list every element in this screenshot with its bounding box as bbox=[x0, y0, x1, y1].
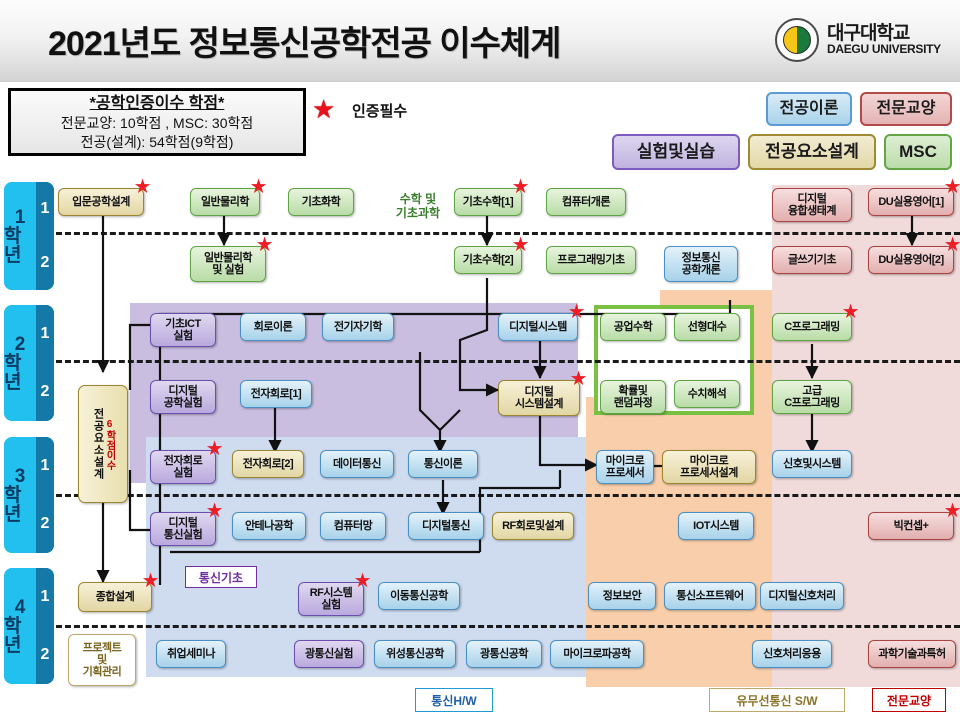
course-node[interactable]: 마이크로 프로세서설계 bbox=[662, 450, 756, 484]
course-node[interactable]: 프로젝트 및 기획관리 bbox=[68, 634, 136, 686]
course-label: 프로젝트 및 기획관리 bbox=[83, 642, 121, 678]
course-node[interactable]: 안테나공학 bbox=[232, 512, 306, 540]
course-node[interactable]: 전기자기학 bbox=[322, 313, 394, 341]
course-node[interactable]: 디지털통신 bbox=[408, 512, 484, 540]
group-label-math-line2: 기초과학 bbox=[378, 206, 458, 220]
course-node[interactable]: 회로이론 bbox=[240, 313, 306, 341]
course-node[interactable]: 종합설계★ bbox=[78, 582, 152, 612]
course-node[interactable]: 일반물리학★ bbox=[190, 188, 260, 216]
course-label: IOT시스템 bbox=[693, 520, 739, 532]
group-label-comm-basic: 통신기초 bbox=[185, 566, 257, 588]
course-node[interactable]: 수치해석 bbox=[674, 380, 740, 408]
course-label: 과학기술과특허 bbox=[878, 648, 945, 660]
year-suffix-2: 학년 bbox=[4, 354, 36, 392]
year-number-2: 2 bbox=[15, 335, 26, 354]
course-label: 컴퓨터망 bbox=[334, 520, 372, 532]
course-node[interactable]: 데이터통신 bbox=[320, 450, 394, 478]
course-node[interactable]: 위성통신공학 bbox=[374, 640, 456, 668]
legend-chip-theory: 전공이론 bbox=[766, 92, 852, 126]
course-label: 일반물리학 bbox=[201, 196, 249, 208]
course-node[interactable]: 공업수학 bbox=[600, 313, 666, 341]
sem-2-2: 2 bbox=[36, 363, 54, 421]
course-node[interactable]: IOT시스템 bbox=[678, 512, 754, 540]
course-node[interactable]: 빅컨셉+★ bbox=[868, 512, 954, 540]
legend-chip-design: 전공요소설계 bbox=[748, 134, 876, 170]
group-label-comm-hw: 통신H/W bbox=[415, 688, 493, 712]
course-label: 통신소프트웨어 bbox=[676, 590, 743, 602]
semester-col-3: 1 2 bbox=[36, 437, 54, 553]
year-block-1: 1 학년 1 2 bbox=[4, 182, 54, 290]
year-number-4: 4 bbox=[15, 598, 26, 617]
course-label: 전자회로 실험 bbox=[164, 455, 202, 479]
sem-3-1: 1 bbox=[36, 437, 54, 495]
credit-line-2: 전공(설계): 54학점(9학점) bbox=[11, 133, 303, 152]
legend-chip-lab: 실험및실습 bbox=[612, 134, 740, 170]
course-label: 디지털시스템 bbox=[509, 321, 567, 333]
course-node[interactable]: 글쓰기기초 bbox=[772, 246, 852, 274]
course-node[interactable]: 이동통신공학 bbox=[378, 582, 460, 610]
course-label: 디지털 시스템설계 bbox=[515, 386, 563, 410]
course-label: 광통신공학 bbox=[480, 648, 528, 660]
course-label: 이동통신공학 bbox=[390, 590, 448, 602]
seal-inner-icon bbox=[783, 26, 811, 54]
course-label: 광통신실험 bbox=[305, 648, 353, 660]
course-label: C프로그래밍 bbox=[784, 321, 840, 333]
logo-name-en: DAEGU UNIVERSITY bbox=[827, 42, 941, 56]
year-block-4: 4 학년 1 2 bbox=[4, 568, 54, 684]
course-node[interactable]: RF시스템 실험★ bbox=[298, 582, 364, 616]
course-label: 디지털통신 bbox=[422, 520, 470, 532]
course-label: RF시스템 실험 bbox=[310, 587, 353, 611]
star-icon: ★ bbox=[568, 302, 585, 322]
star-icon: ★ bbox=[944, 501, 960, 521]
course-label: 기초화학 bbox=[302, 196, 340, 208]
star-icon: ★ bbox=[134, 177, 151, 197]
semester-divider-3 bbox=[56, 494, 960, 497]
course-label: RF회로및설계 bbox=[502, 520, 564, 532]
course-label: 확률및 랜덤과정 bbox=[614, 385, 652, 409]
course-label: 글쓰기기초 bbox=[788, 254, 836, 266]
course-label: 디지털 공학실험 bbox=[164, 385, 202, 409]
course-node[interactable]: 정보보안 bbox=[588, 582, 656, 610]
course-label: 안테나공학 bbox=[245, 520, 293, 532]
star-icon: ★ bbox=[512, 177, 529, 197]
star-icon: ★ bbox=[250, 177, 267, 197]
course-node[interactable]: 정보통신 공학개론 bbox=[664, 246, 738, 282]
year-label-2: 2 학년 bbox=[4, 305, 36, 421]
course-node[interactable]: 디지털 통신실험★ bbox=[150, 512, 216, 546]
course-node[interactable]: 기초ICT 실험 bbox=[150, 313, 216, 347]
star-icon: ★ bbox=[312, 94, 335, 124]
credit-title: *공학인증이수 학점* bbox=[11, 94, 303, 114]
course-node-design-credit[interactable]: 전공요소설계 6학점이수 bbox=[78, 385, 128, 503]
course-node[interactable]: 기초수학[2]★ bbox=[454, 246, 522, 274]
course-label: 신호처리응용 bbox=[763, 648, 821, 660]
course-label: DU실용영어[2] bbox=[878, 254, 943, 266]
star-icon: ★ bbox=[570, 369, 587, 389]
sem-4-1: 1 bbox=[36, 568, 54, 626]
course-node[interactable]: 일반물리학 및 실험★ bbox=[190, 246, 266, 282]
course-label: 입문공학설계 bbox=[72, 196, 130, 208]
course-node[interactable]: 마이크로 프로세서 bbox=[596, 450, 654, 484]
sem-4-2: 2 bbox=[36, 626, 54, 684]
sem-1-1: 1 bbox=[36, 182, 54, 236]
semester-divider-1 bbox=[56, 232, 960, 235]
course-node[interactable]: 신호및시스템 bbox=[772, 450, 852, 478]
course-node[interactable]: 고급 C프로그래밍 bbox=[772, 380, 852, 414]
course-label: DU실용영어[1] bbox=[878, 196, 943, 208]
group-label-comm-sw: 유무선통신 S/W bbox=[709, 688, 845, 712]
semester-col-4: 1 2 bbox=[36, 568, 54, 684]
course-node[interactable]: 광통신공학 bbox=[466, 640, 542, 668]
star-icon: ★ bbox=[842, 302, 859, 322]
star-legend-label: 인증필수 bbox=[352, 100, 407, 121]
course-label: 통신이론 bbox=[424, 458, 462, 470]
curriculum-diagram: 2021년도 정보통신공학전공 이수체계 대구대학교 DAEGU UNIVERS… bbox=[0, 0, 960, 720]
star-icon: ★ bbox=[142, 571, 159, 591]
year-block-3: 3 학년 1 2 bbox=[4, 437, 54, 553]
course-node[interactable]: 광통신실험 bbox=[294, 640, 364, 668]
course-node[interactable]: 통신소프트웨어 bbox=[664, 582, 756, 610]
star-icon: ★ bbox=[256, 235, 273, 255]
course-node[interactable]: 통신이론 bbox=[408, 450, 478, 478]
course-label: 마이크로 프로세서 bbox=[606, 455, 644, 479]
course-label: 디지털 융합생태계 bbox=[788, 193, 836, 217]
course-label: 디지털 통신실험 bbox=[164, 517, 202, 541]
course-label: 기초수학[1] bbox=[463, 196, 513, 208]
course-label: 종합설계 bbox=[96, 591, 134, 603]
course-label: 기초수학[2] bbox=[463, 254, 513, 266]
year-block-2: 2 학년 1 2 bbox=[4, 305, 54, 421]
course-node[interactable]: 기초화학 bbox=[288, 188, 354, 216]
group-label-math-line1: 수학 및 bbox=[378, 192, 458, 206]
group-label-math: 수학 및 기초과학 bbox=[378, 192, 458, 220]
course-node[interactable]: 디지털신호처리 bbox=[760, 582, 844, 610]
course-label: 수치해석 bbox=[688, 388, 726, 400]
semester-divider-2 bbox=[56, 360, 960, 363]
course-label: 취업세미나 bbox=[167, 648, 215, 660]
star-icon: ★ bbox=[206, 501, 223, 521]
legend-chip-msc: MSC bbox=[884, 134, 952, 170]
year-label-3: 3 학년 bbox=[4, 437, 36, 553]
sem-3-2: 2 bbox=[36, 495, 54, 553]
design-credit-amount: 6학점이수 bbox=[104, 419, 115, 470]
course-node[interactable]: 신호처리응용 bbox=[752, 640, 832, 668]
semester-divider-4 bbox=[56, 625, 960, 628]
course-label: 전자회로[1] bbox=[251, 388, 301, 400]
star-icon: ★ bbox=[944, 177, 960, 197]
course-label: 기초ICT 실험 bbox=[165, 318, 200, 342]
course-node[interactable]: 마이크로파공학 bbox=[550, 640, 644, 668]
logo-name-kr: 대구대학교 bbox=[827, 18, 909, 45]
page-title: 2021년도 정보통신공학전공 이수체계 bbox=[48, 16, 748, 65]
course-node[interactable]: 과학기술과특허 bbox=[868, 640, 956, 668]
course-node[interactable]: 선형대수 bbox=[674, 313, 740, 341]
course-label: 마이크로 프로세서설계 bbox=[680, 455, 738, 479]
year-number-3: 3 bbox=[15, 467, 26, 486]
course-label: 데이터통신 bbox=[333, 458, 381, 470]
year-label-4: 4 학년 bbox=[4, 568, 36, 684]
course-node[interactable]: 입문공학설계★ bbox=[58, 188, 144, 216]
sem-2-1: 1 bbox=[36, 305, 54, 363]
design-credit-label: 전공요소설계 bbox=[91, 408, 104, 480]
course-node[interactable]: DU실용영어[1]★ bbox=[868, 188, 954, 216]
course-node[interactable]: RF회로및설계 bbox=[492, 512, 574, 540]
course-node[interactable]: 디지털시스템★ bbox=[498, 313, 578, 341]
university-logo: 대구대학교 DAEGU UNIVERSITY bbox=[775, 16, 955, 66]
course-label: 전자회로[2] bbox=[243, 458, 293, 470]
year-suffix-1: 학년 bbox=[4, 227, 36, 265]
semester-col-2: 1 2 bbox=[36, 305, 54, 421]
course-label: 정보보안 bbox=[603, 590, 641, 602]
course-node[interactable]: 디지털 시스템설계★ bbox=[498, 380, 580, 416]
course-label: 마이크로파공학 bbox=[563, 648, 630, 660]
course-label: 선형대수 bbox=[688, 321, 726, 333]
course-label: 프로그래밍기초 bbox=[557, 254, 624, 266]
course-node[interactable]: 전자회로[1] bbox=[240, 380, 312, 408]
legend-chip-liberal: 전문교양 bbox=[860, 92, 952, 126]
course-node[interactable]: C프로그래밍★ bbox=[772, 313, 852, 341]
course-label: 디지털신호처리 bbox=[768, 590, 835, 602]
year-suffix-3: 학년 bbox=[4, 486, 36, 524]
year-suffix-4: 학년 bbox=[4, 617, 36, 655]
course-node[interactable]: 확률및 랜덤과정 bbox=[600, 380, 666, 414]
course-label: 컴퓨터개론 bbox=[562, 196, 610, 208]
semester-col-1: 1 2 bbox=[36, 182, 54, 290]
course-node[interactable]: 전자회로[2] bbox=[232, 450, 304, 478]
university-seal-icon bbox=[775, 18, 819, 62]
course-node[interactable]: 컴퓨터개론 bbox=[546, 188, 626, 216]
star-icon: ★ bbox=[512, 235, 529, 255]
star-legend: ★ 인증필수 bbox=[312, 96, 462, 124]
page-header: 2021년도 정보통신공학전공 이수체계 대구대학교 DAEGU UNIVERS… bbox=[0, 0, 960, 82]
star-icon: ★ bbox=[354, 571, 371, 591]
group-label-liberal: 전문교양 bbox=[872, 688, 946, 712]
course-label: 고급 C프로그래밍 bbox=[784, 385, 840, 409]
credit-requirement-box: *공학인증이수 학점* 전문교양: 10학점 , MSC: 30학점 전공(설계… bbox=[8, 88, 306, 156]
sem-1-2: 2 bbox=[36, 236, 54, 290]
course-node[interactable]: 프로그래밍기초 bbox=[546, 246, 636, 274]
year-label-1: 1 학년 bbox=[4, 182, 36, 290]
course-node[interactable]: DU실용영어[2]★ bbox=[868, 246, 954, 274]
course-label: 회로이론 bbox=[254, 321, 292, 333]
course-label: 일반물리학 및 실험 bbox=[204, 252, 252, 276]
course-label: 정보통신 공학개론 bbox=[682, 252, 720, 276]
course-node[interactable]: 전자회로 실험★ bbox=[150, 450, 216, 484]
course-node[interactable]: 디지털 융합생태계 bbox=[772, 188, 852, 222]
year-number-1: 1 bbox=[15, 208, 26, 227]
course-node[interactable]: 취업세미나 bbox=[156, 640, 226, 668]
course-label: 신호및시스템 bbox=[783, 458, 841, 470]
course-node[interactable]: 디지털 공학실험 bbox=[150, 380, 216, 414]
star-icon: ★ bbox=[944, 235, 960, 255]
course-label: 공업수학 bbox=[614, 321, 652, 333]
credit-line-1: 전문교양: 10학점 , MSC: 30학점 bbox=[11, 114, 303, 133]
course-label: 전기자기학 bbox=[334, 321, 382, 333]
course-node[interactable]: 기초수학[1]★ bbox=[454, 188, 522, 216]
course-node[interactable]: 컴퓨터망 bbox=[320, 512, 386, 540]
course-label: 위성통신공학 bbox=[386, 648, 444, 660]
course-label: 빅컨셉+ bbox=[894, 520, 929, 532]
star-icon: ★ bbox=[206, 439, 223, 459]
